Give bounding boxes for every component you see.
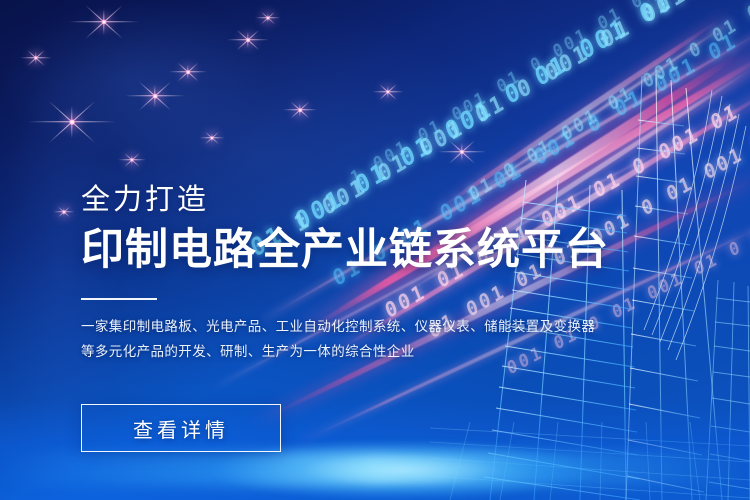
divider [81, 298, 157, 300]
hero-banner: 01 001 01 01 001 0 01 001 01 01 001 01 0… [0, 0, 750, 500]
description: 一家集印制电路板、光电产品、工业自动化控制系统、仪器仪表、储能装置及变换器 等多… [81, 314, 681, 364]
view-details-label: 查看详情 [133, 414, 229, 443]
eyebrow-text: 全力打造 [81, 186, 681, 215]
view-details-button[interactable]: 查看详情 [81, 404, 281, 452]
horizon-glow [0, 452, 750, 486]
description-line-1: 一家集印制电路板、光电产品、工业自动化控制系统、仪器仪表、储能装置及变换器 [81, 314, 681, 339]
description-line-2: 等多元化产品的开发、研制、生产为一体的综合性企业 [81, 339, 681, 364]
hero-content: 全力打造 印制电路全产业链系统平台 一家集印制电路板、光电产品、工业自动化控制系… [81, 186, 681, 364]
page-title: 印制电路全产业链系统平台 [81, 229, 681, 272]
